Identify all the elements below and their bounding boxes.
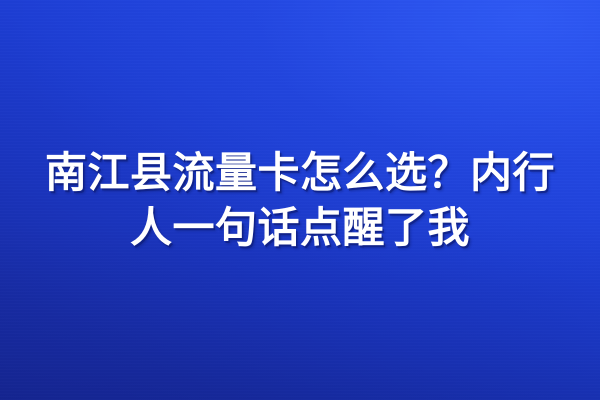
banner-headline: 南江县流量卡怎么选？内行人一句话点醒了我 bbox=[30, 145, 570, 255]
banner-cover: 南江县流量卡怎么选？内行人一句话点醒了我 bbox=[0, 0, 600, 400]
